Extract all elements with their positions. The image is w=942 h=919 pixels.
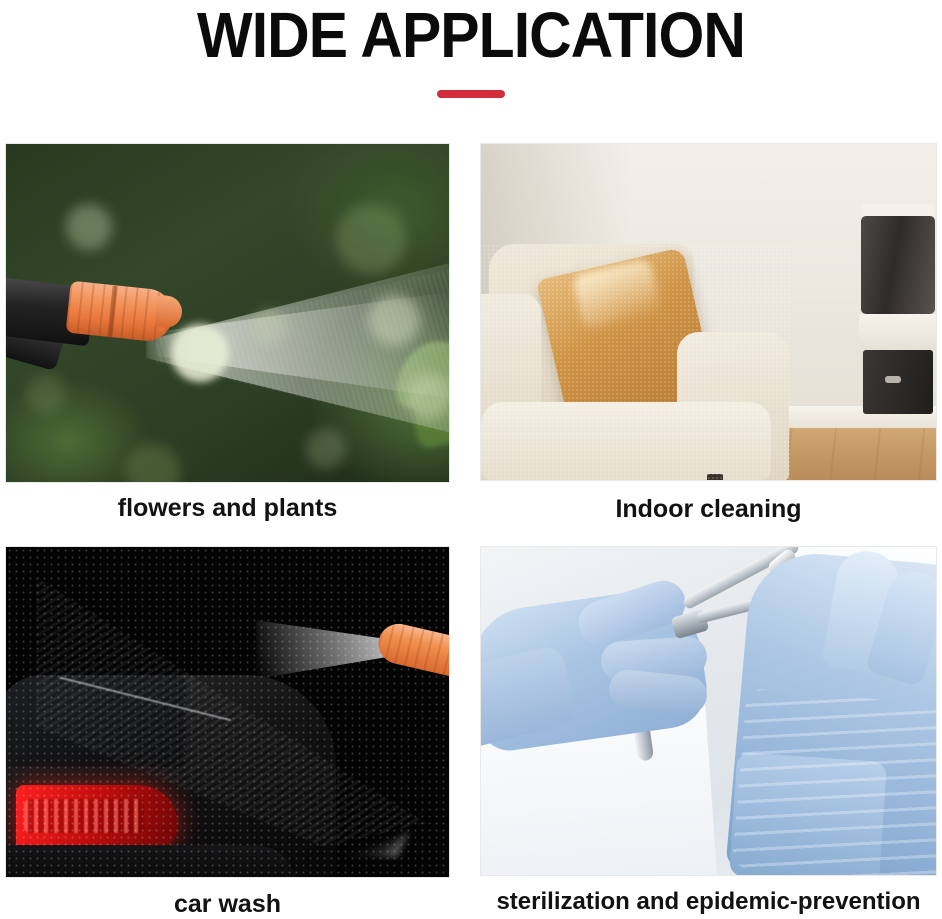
bokeh-highlight [406, 374, 450, 420]
grid-row-top: flowers and plants [0, 143, 942, 524]
caption-flowers-and-plants: flowers and plants [5, 494, 450, 523]
air-purifier [859, 204, 937, 414]
bokeh-highlight [252, 309, 288, 345]
page-title: WIDE APPLICATION [38, 2, 905, 68]
glove-wrinkles [732, 688, 937, 876]
bokeh-highlight [171, 324, 229, 382]
bokeh-highlight [66, 204, 112, 250]
panel-flowers-and-plants: flowers and plants [0, 143, 450, 524]
grid-row-bottom: car wash [0, 546, 942, 919]
application-grid: flowers and plants [0, 143, 942, 919]
accent-bar-wrapper [0, 90, 942, 98]
title-accent-bar [437, 90, 505, 98]
photo-indoor-cleaning [480, 143, 937, 481]
bokeh-highlight [26, 374, 66, 414]
photo-sterilization [480, 546, 937, 876]
panel-car-wash: car wash [0, 546, 450, 919]
purifier-knob [885, 376, 901, 383]
caption-sterilization: sterilization and epidemic-prevention [480, 888, 937, 916]
purifier-glass [861, 216, 935, 314]
caption-car-wash: car wash [5, 890, 450, 919]
photo-car-wash [5, 546, 450, 878]
panel-indoor-cleaning: Indoor cleaning [450, 143, 942, 524]
photo-flowers-and-plants [5, 143, 450, 483]
caption-indoor-cleaning: Indoor cleaning [480, 495, 937, 524]
purifier-midband [859, 314, 937, 350]
bokeh-highlight [306, 429, 346, 469]
page-header: WIDE APPLICATION [0, 0, 942, 98]
boucle-texture [480, 244, 791, 481]
panel-sterilization: sterilization and epidemic-prevention [450, 546, 942, 919]
bokeh-highlight [336, 204, 406, 274]
water-droplets [6, 547, 449, 877]
bokeh-highlight [368, 294, 420, 346]
purifier-top [861, 204, 935, 216]
